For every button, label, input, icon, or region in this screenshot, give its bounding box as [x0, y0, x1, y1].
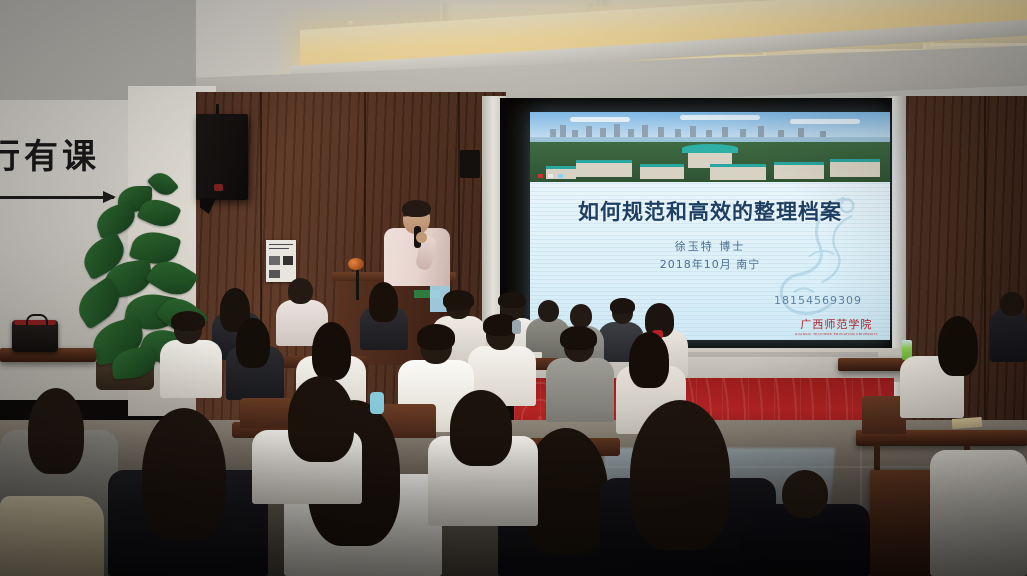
speaker-brand-badge: [214, 184, 223, 191]
audience-hair: [171, 311, 205, 331]
audience-torso: [930, 450, 1027, 576]
bag-handle: [26, 314, 48, 325]
audience-hair: [938, 316, 978, 376]
audience-hair: [560, 326, 597, 350]
pa-speaker-box-secondary: [460, 150, 480, 178]
hair-accessory: [512, 320, 521, 334]
chair-back: [240, 398, 294, 428]
slide-phone-number: 18154569309: [774, 294, 862, 307]
audience-hair: [312, 322, 351, 380]
audience-hair: [630, 400, 730, 550]
wall-notice-poster: [266, 240, 296, 282]
audience-hair: [610, 298, 635, 314]
audience-torso: [990, 308, 1027, 362]
logo-text: 广西师范学院: [795, 316, 878, 332]
wood-panel-seam: [984, 96, 986, 436]
teal-hair-accessory: [370, 392, 384, 414]
pa-speaker-box: [196, 114, 248, 200]
audience-torso: [160, 340, 222, 398]
slide-presenter-name: 徐玉特 博士: [530, 238, 890, 254]
audience-hair: [629, 332, 669, 388]
audience-head: [570, 304, 592, 328]
presenter-hair: [402, 200, 431, 217]
audience-hair: [443, 290, 474, 310]
slide-date-location: 2018年10月 南宁: [530, 256, 890, 272]
banner-building: [830, 159, 880, 177]
wall-arrow-icon: [0, 196, 114, 199]
banner-building: [576, 160, 632, 177]
audience-hair: [417, 324, 455, 350]
audience-hair: [142, 408, 226, 540]
audience-head: [782, 470, 828, 518]
slide-banner-image: [530, 112, 890, 182]
banner-dot-markers: [538, 174, 563, 178]
ceiling-downlight: [345, 19, 356, 26]
presentation-room-photo: 行有课: [0, 0, 1027, 576]
audience-hair: [369, 282, 398, 322]
presenter-hand: [416, 232, 427, 243]
audience-hair: [28, 388, 84, 474]
banner-building: [710, 164, 766, 180]
audience-hair: [236, 318, 270, 368]
audience-head: [288, 278, 313, 304]
audience-hair: [498, 292, 526, 308]
slide-title: 如何规范和高效的整理档案: [530, 196, 890, 226]
book-on-desk: [952, 417, 983, 429]
banner-building: [640, 164, 684, 179]
audience-head: [538, 300, 559, 322]
audience-hair: [288, 376, 354, 462]
logo-subtext: GUANGXI TEACHERS EDUCATION UNIVERSITY: [795, 332, 878, 336]
banner-building: [774, 162, 824, 179]
slide-university-logo: 广西师范学院 GUANGXI TEACHERS EDUCATION UNIVER…: [795, 316, 878, 336]
audience-head: [1000, 292, 1024, 316]
audience-torso: [546, 358, 614, 422]
coat-on-chair: [0, 496, 104, 576]
desk-microphone-icon: [348, 258, 364, 270]
audience-hair: [450, 390, 512, 466]
wall-calligraphy-text: 行有课: [0, 140, 136, 174]
